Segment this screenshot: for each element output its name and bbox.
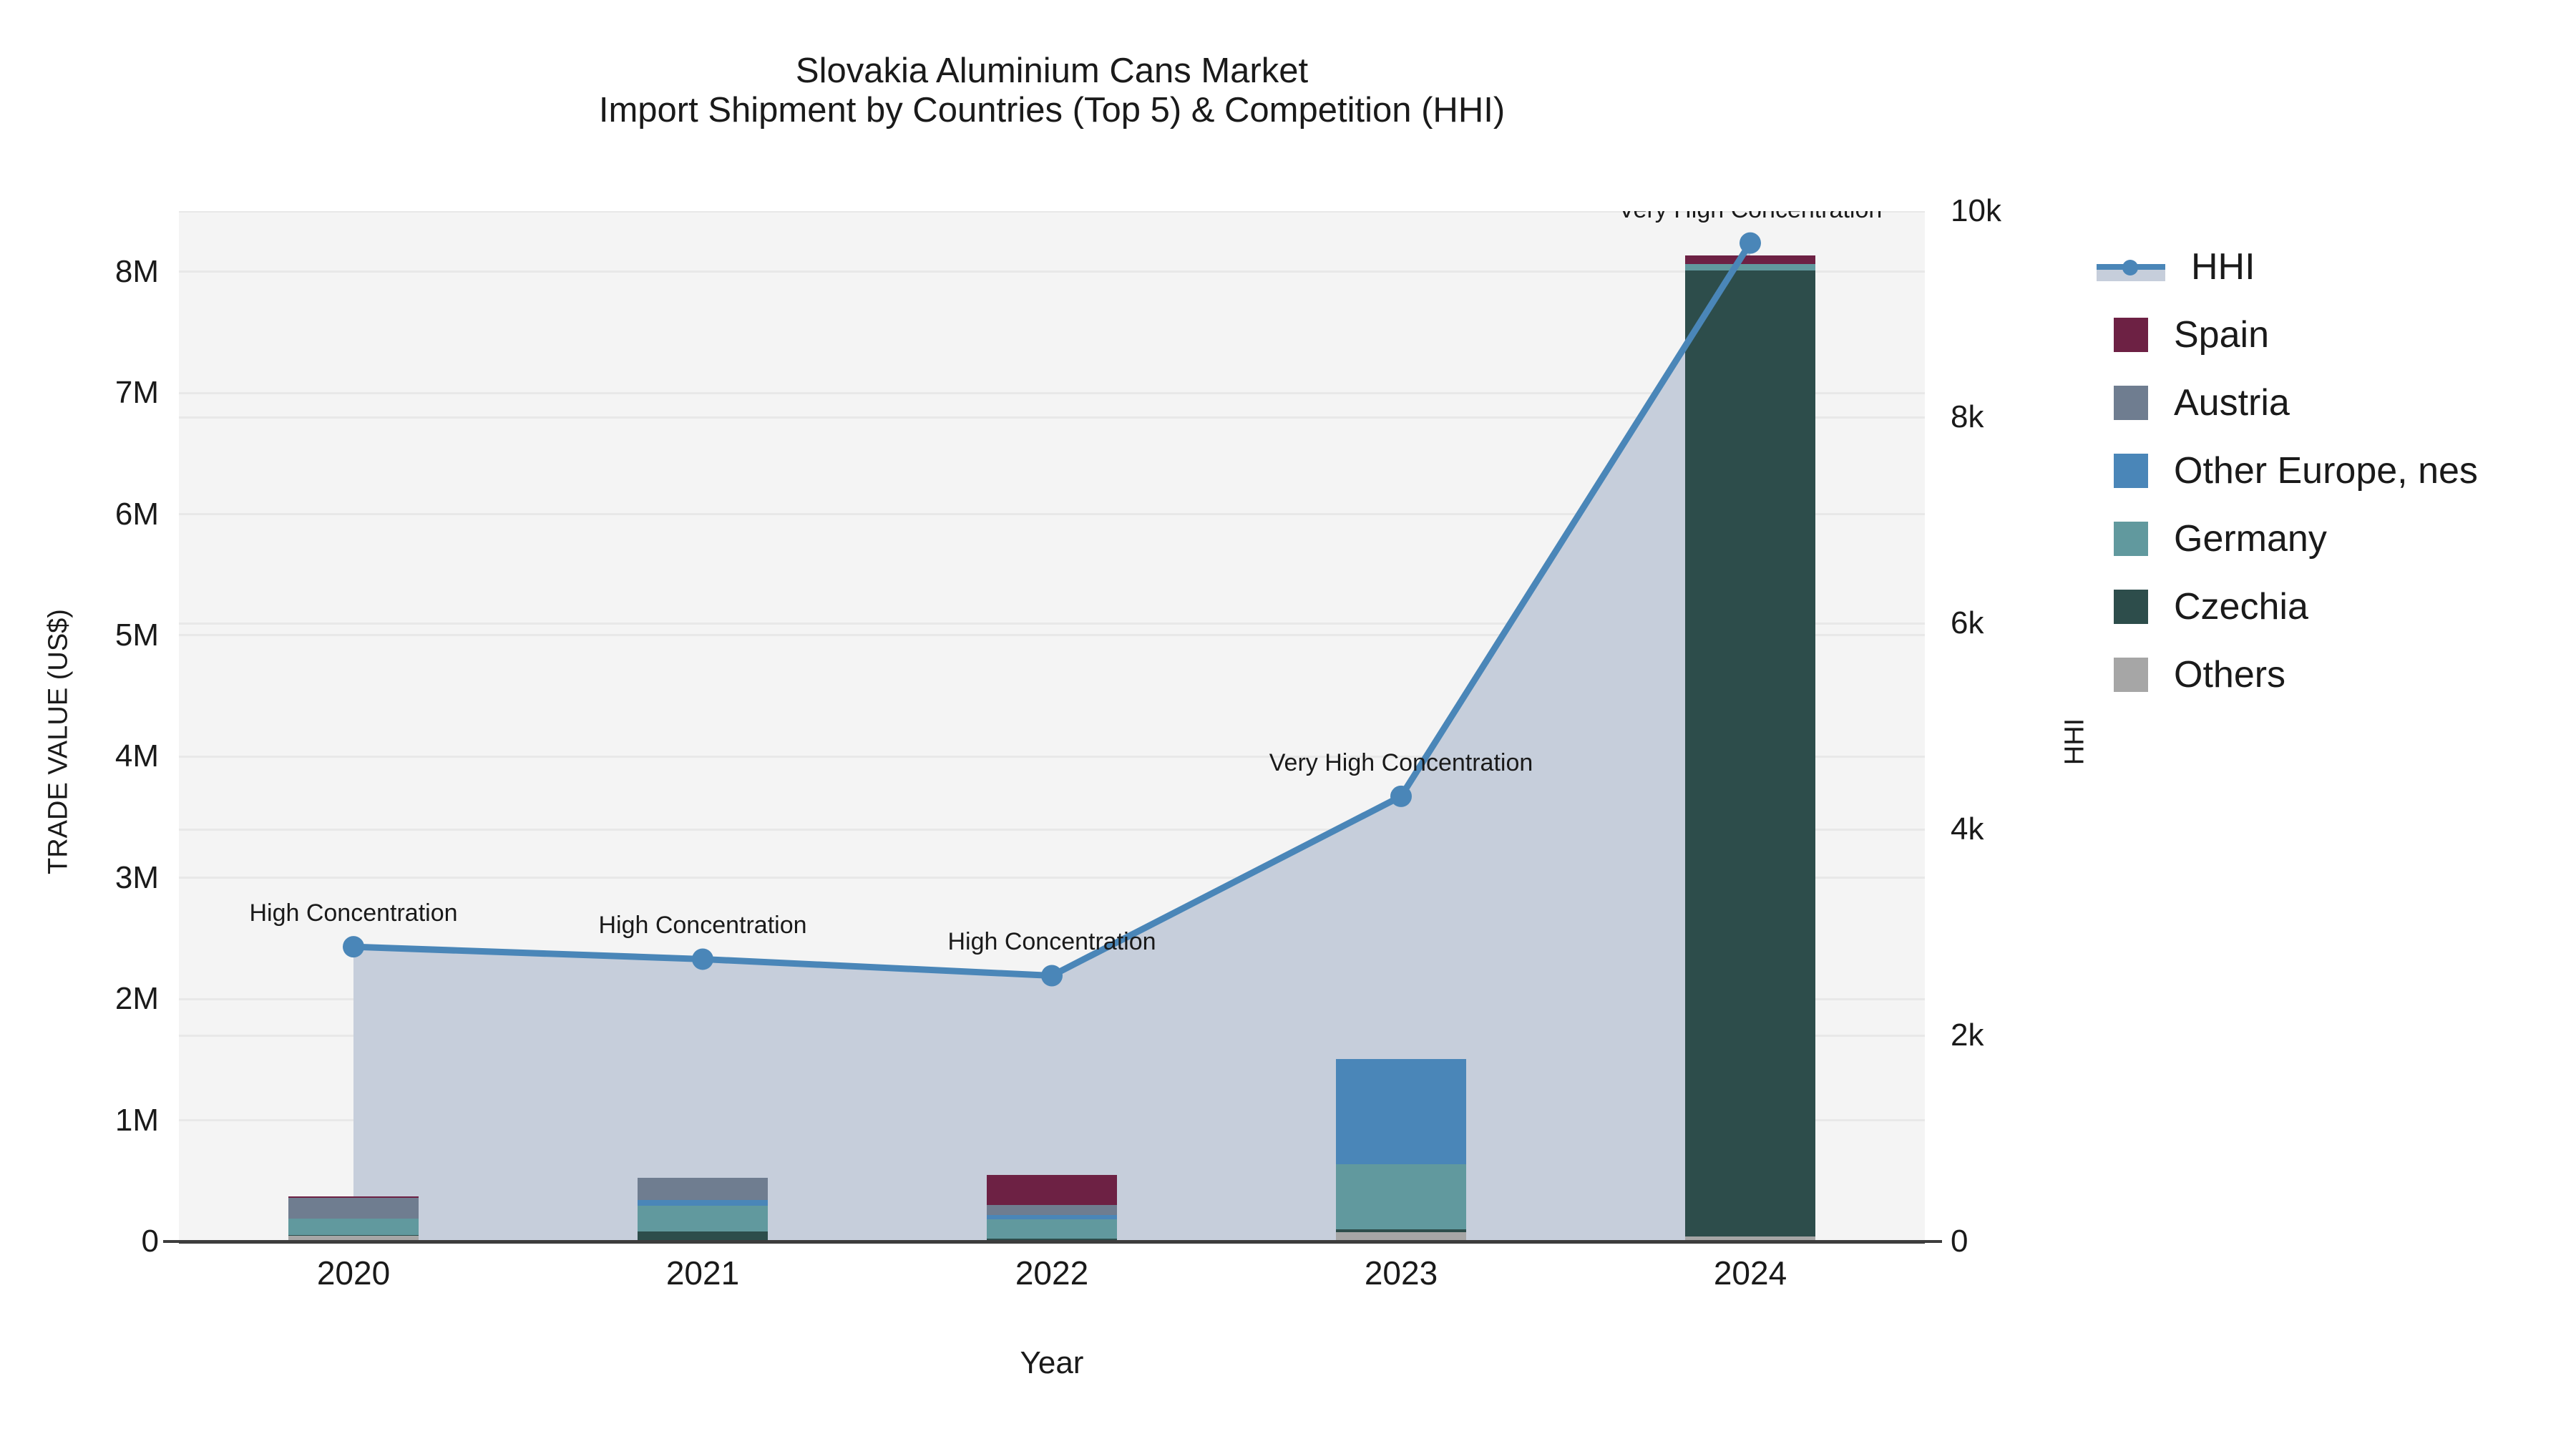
legend-color-swatch bbox=[2114, 522, 2148, 556]
y-axis-left-tick-label: 6M bbox=[0, 497, 159, 532]
y-axis-left-tick-label: 3M bbox=[0, 860, 159, 896]
x-axis-tick-label-2020: 2020 bbox=[317, 1254, 390, 1292]
legend-color-swatch bbox=[2114, 658, 2148, 692]
hhi-marker-2020[interactable] bbox=[343, 936, 364, 957]
y-axis-right-tick-label: 8k bbox=[1951, 399, 2094, 435]
legend-item-label: Austria bbox=[2174, 381, 2290, 424]
chart-subtitle: Import Shipment by Countries (Top 5) & C… bbox=[0, 91, 2104, 130]
legend-item-label: Others bbox=[2174, 653, 2285, 696]
legend-item-other-europe-nes[interactable]: Other Europe, nes bbox=[2097, 436, 2478, 504]
y-axis-right-title: HHI bbox=[2060, 599, 2091, 885]
y-axis-left-tick-label: 4M bbox=[0, 738, 159, 774]
y-axis-left-tick-label: 8M bbox=[0, 254, 159, 290]
legend-item-others[interactable]: Others bbox=[2097, 640, 2478, 708]
hhi-marker-2024[interactable] bbox=[1740, 233, 1761, 254]
legend-item-label: HHI bbox=[2191, 245, 2255, 288]
chart-root: Slovakia Aluminium Cans Market Import Sh… bbox=[0, 0, 2576, 1449]
annotation-2021: High Concentration bbox=[598, 912, 806, 940]
x-axis-title: Year bbox=[179, 1345, 1925, 1381]
legend: HHISpainAustriaOther Europe, nesGermanyC… bbox=[2097, 233, 2478, 708]
legend-item-austria[interactable]: Austria bbox=[2097, 369, 2478, 436]
legend-color-swatch bbox=[2114, 386, 2148, 420]
y-axis-left-title: TRADE VALUE (US$) bbox=[44, 492, 74, 992]
x-axis-tick-label-2022: 2022 bbox=[1015, 1254, 1088, 1292]
legend-line-swatch bbox=[2097, 250, 2165, 284]
legend-item-label: Czechia bbox=[2174, 585, 2308, 628]
y-axis-left-tick-label: 5M bbox=[0, 618, 159, 653]
hhi-line-path bbox=[353, 243, 1750, 976]
x-axis-tick-label-2023: 2023 bbox=[1365, 1254, 1438, 1292]
y-axis-right-tick-label: 2k bbox=[1951, 1018, 2094, 1053]
legend-item-czechia[interactable]: Czechia bbox=[2097, 572, 2478, 640]
plot-area: High ConcentrationHigh ConcentrationHigh… bbox=[179, 211, 1925, 1241]
annotation-2024: Very High Concentration bbox=[1619, 211, 1883, 224]
y-axis-left-tick-label: 0 bbox=[0, 1224, 159, 1259]
legend-color-swatch bbox=[2114, 454, 2148, 488]
y-axis-right-tick-label: 0 bbox=[1951, 1224, 2094, 1259]
legend-item-label: Other Europe, nes bbox=[2174, 449, 2478, 492]
annotation-2020: High Concentration bbox=[249, 899, 457, 927]
annotation-2022: High Concentration bbox=[947, 928, 1156, 956]
chart-title: Slovakia Aluminium Cans Market bbox=[0, 52, 2104, 91]
chart-title-block: Slovakia Aluminium Cans Market Import Sh… bbox=[0, 52, 2104, 130]
legend-item-germany[interactable]: Germany bbox=[2097, 504, 2478, 572]
legend-item-label: Spain bbox=[2174, 313, 2269, 356]
legend-line-marker bbox=[2122, 260, 2138, 275]
hhi-line-top bbox=[179, 211, 1925, 1241]
hhi-marker-2023[interactable] bbox=[1390, 786, 1412, 807]
legend-color-swatch bbox=[2114, 318, 2148, 352]
y-axis-right-tick-label: 10k bbox=[1951, 193, 2094, 229]
y-axis-left-tick-label: 2M bbox=[0, 981, 159, 1017]
x-axis-line bbox=[179, 1240, 1925, 1244]
y-axis-left-tick bbox=[163, 1240, 180, 1243]
legend-item-spain[interactable]: Spain bbox=[2097, 301, 2478, 369]
legend-color-swatch bbox=[2114, 590, 2148, 624]
hhi-marker-2021[interactable] bbox=[692, 948, 713, 970]
y-axis-right-tick bbox=[1925, 1240, 1942, 1243]
hhi-marker-2022[interactable] bbox=[1041, 965, 1063, 986]
annotation-2023: Very High Concentration bbox=[1269, 749, 1533, 777]
legend-item-hhi[interactable]: HHI bbox=[2097, 233, 2478, 301]
x-axis-tick-label-2021: 2021 bbox=[666, 1254, 739, 1292]
y-axis-left-tick-label: 7M bbox=[0, 375, 159, 411]
x-axis-tick-label-2024: 2024 bbox=[1714, 1254, 1787, 1292]
legend-item-label: Germany bbox=[2174, 517, 2327, 560]
y-axis-left-tick-label: 1M bbox=[0, 1103, 159, 1138]
